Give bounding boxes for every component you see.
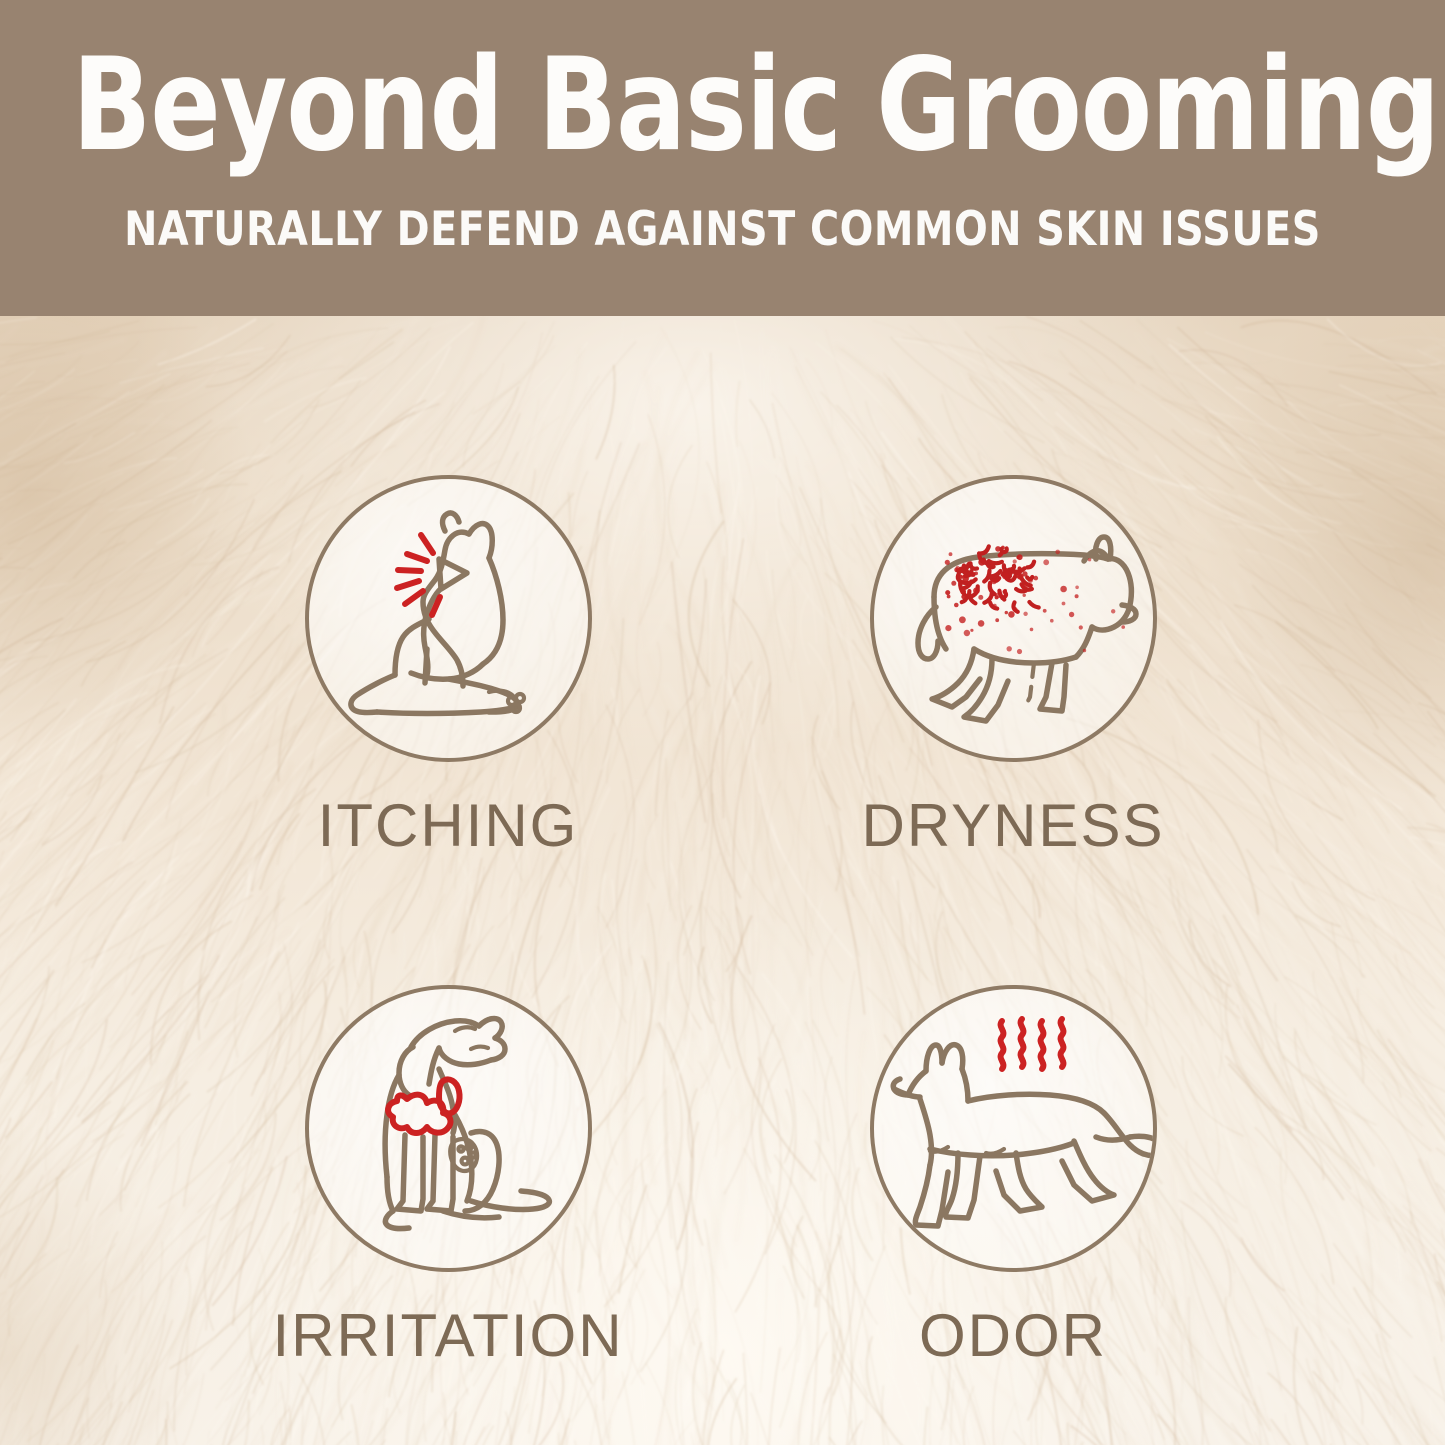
promotional-infographic: Beyond Basic Grooming NATURALLY DEFEND A… [0, 0, 1445, 1445]
fur-background [0, 316, 1445, 1445]
issue-label-dryness: DRYNESS [783, 795, 1243, 857]
issue-label-irritation: IRRITATION [218, 1305, 678, 1367]
header-banner: Beyond Basic Grooming NATURALLY DEFEND A… [0, 0, 1445, 316]
issue-label-odor: ODOR [783, 1305, 1243, 1367]
issue-label-itching: ITCHING [218, 795, 678, 857]
page-title: Beyond Basic Grooming [72, 42, 1373, 170]
dog-flaky-skin-icon [870, 475, 1157, 762]
dog-sitting-irritated-icon [305, 985, 592, 1272]
page-subtitle: NATURALLY DEFEND AGAINST COMMON SKIN ISS… [43, 204, 1401, 256]
dog-scratching-icon [305, 475, 592, 762]
dog-walking-odor-icon [870, 985, 1157, 1272]
